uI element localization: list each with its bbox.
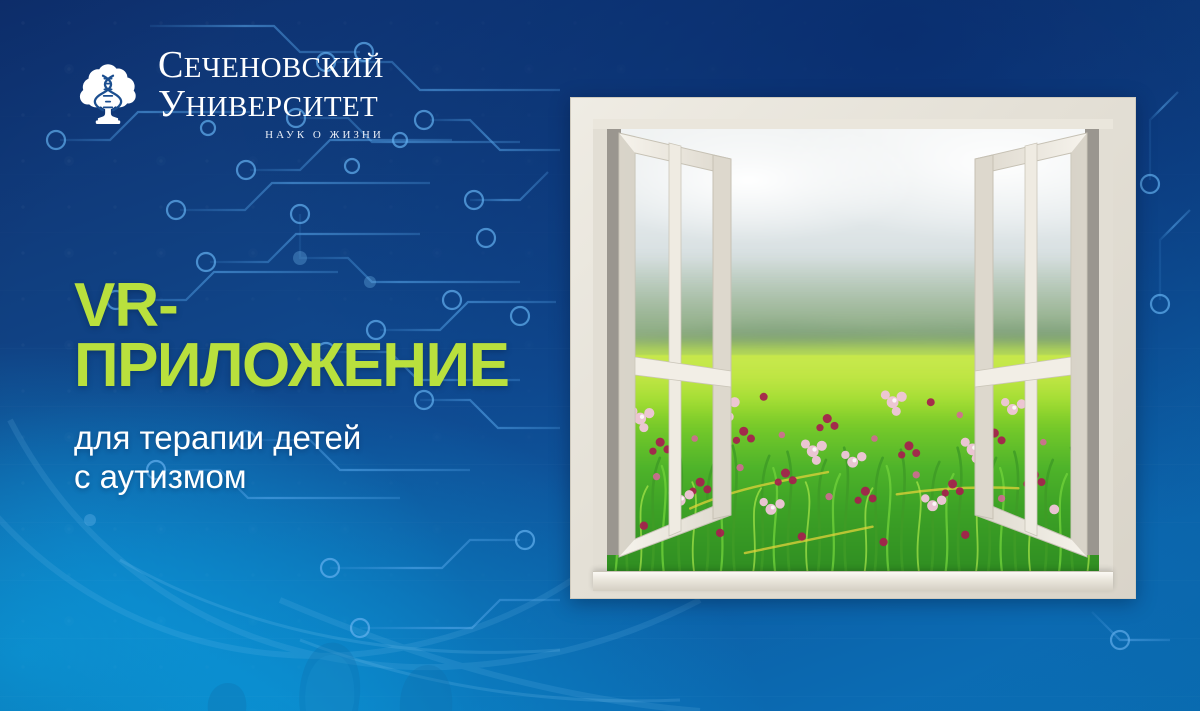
logo-tagline: НАУК О ЖИЗНИ [158, 130, 384, 141]
title-line-1: VR- [74, 276, 508, 336]
headline-block: VR- ПРИЛОЖЕНИЕ для терапии детей с аутиз… [74, 276, 508, 497]
window-reveal [593, 119, 1113, 573]
tree-dna-icon [72, 57, 144, 129]
logo-wordmark: СЕЧЕНОВСКИЙ УНИВЕРСИТЕТ НАУК О ЖИЗНИ [158, 44, 384, 141]
title-line-2: ПРИЛОЖЕНИЕ [74, 336, 508, 396]
sechenov-university-logo[interactable]: СЕЧЕНОВСКИЙ УНИВЕРСИТЕТ НАУК О ЖИЗНИ [72, 44, 384, 141]
poster-canvas: СЕЧЕНОВСКИЙ УНИВЕРСИТЕТ НАУК О ЖИЗНИ VR-… [0, 0, 1200, 711]
page-title: VR- ПРИЛОЖЕНИЕ [74, 276, 508, 395]
page-subtitle: для терапии детей с аутизмом [74, 419, 508, 497]
subtitle-line-1: для терапии детей [74, 419, 508, 458]
open-window-image [570, 97, 1136, 599]
subtitle-line-2: с аутизмом [74, 458, 508, 497]
window-sill [593, 571, 1113, 591]
touch-fingertips-silhouette [0, 561, 560, 711]
logo-line-2: УНИВЕРСИТЕТ [158, 85, 384, 123]
logo-line-1: СЕЧЕНОВСКИЙ [158, 46, 384, 84]
window-casements [593, 119, 1113, 573]
